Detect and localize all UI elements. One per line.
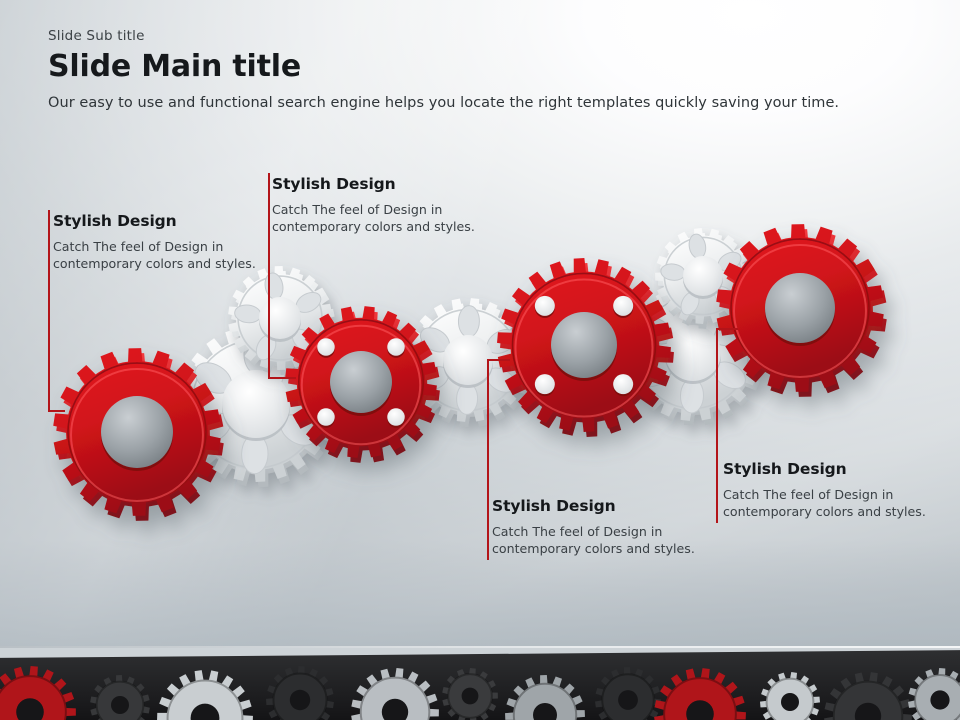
callout-1-title: Stylish Design [53,212,268,231]
slide-main-title: Slide Main title [48,50,928,85]
callout-3-body: Catch The feel of Design in contemporary… [492,523,707,557]
callout-2-body: Catch The feel of Design in contemporary… [272,201,487,235]
callout-3-leader-horizontal [487,359,510,361]
callout-1-leader-vertical [48,210,50,412]
callout-1-body: Catch The feel of Design in contemporary… [53,238,268,272]
callout-4-leader-vertical [716,328,718,523]
callout-1-leader-horizontal [48,410,65,412]
callout-2-leader-vertical [268,173,270,379]
slide-lead-text: Our easy to use and functional search en… [48,95,928,112]
callout-4-leader-horizontal [716,328,738,330]
callout-2[interactable]: Stylish Design Catch The feel of Design … [272,175,487,235]
callout-4-body: Catch The feel of Design in contemporary… [723,486,943,520]
slide-header: Slide Sub title Slide Main title Our eas… [48,28,928,112]
callout-2-title: Stylish Design [272,175,487,194]
callout-4-title: Stylish Design [723,460,943,479]
callout-1[interactable]: Stylish Design Catch The feel of Design … [53,212,268,272]
gear-pattern-band [0,648,960,720]
slide-sub-title: Slide Sub title [48,28,928,44]
red-gear-3 [497,258,674,437]
callout-3-leader-vertical [487,359,489,560]
slide-canvas: Slide Sub title Slide Main title Our eas… [0,0,960,720]
callout-3-title: Stylish Design [492,497,707,516]
callout-3[interactable]: Stylish Design Catch The feel of Design … [492,497,707,557]
callout-2-leader-horizontal [268,377,296,379]
callout-4[interactable]: Stylish Design Catch The feel of Design … [723,460,943,520]
